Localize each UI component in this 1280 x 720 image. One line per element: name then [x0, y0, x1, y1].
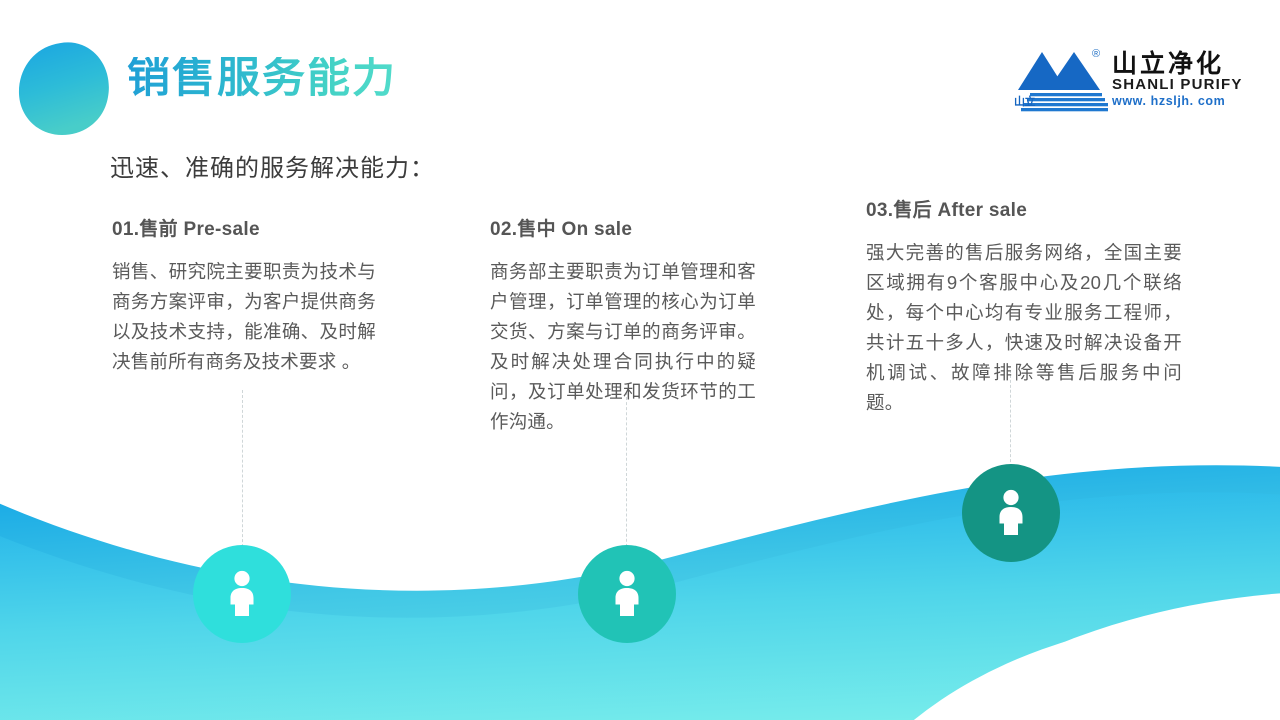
- content-column-after-sale: 03.售后 After sale 强大完善的售后服务网络，全国主要区域拥有9个客…: [866, 195, 1182, 418]
- column-body-text: 商务部主要职责为订单管理和客户管理，订单管理的核心为订单交货、方案与订单的商务评…: [490, 257, 756, 437]
- column-heading: 02.售中 On sale: [490, 214, 756, 241]
- logo-mark-label: 山立: [1014, 93, 1035, 109]
- registered-trademark-icon: ®: [1092, 48, 1100, 60]
- column-body-text: 强大完善的售后服务网络，全国主要区域拥有9个客服中心及20几个联络处，每个中心均…: [866, 238, 1182, 418]
- person-icon: [994, 488, 1028, 538]
- logo-company-name-cn: 山立净化: [1112, 51, 1243, 77]
- section-subtitle: 迅速、准确的服务解决能力：: [110, 148, 435, 183]
- mountain-logo-icon: ® 山立: [1012, 46, 1108, 114]
- content-column-on-sale: 02.售中 On sale 商务部主要职责为订单管理和客户管理，订单管理的核心为…: [490, 214, 756, 437]
- logo-website-url: www. hzsljh. com: [1112, 94, 1243, 108]
- title-blob-shape: [16, 41, 112, 137]
- logo-text-block: 山立净化 SHANLI PURIFY www. hzsljh. com: [1112, 46, 1243, 108]
- content-column-pre-sale: 01.售前 Pre-sale 销售、研究院主要职责为技术与商务方案评审，为客户提…: [112, 214, 376, 377]
- wave-white-ellipse: [815, 615, 1280, 720]
- column-heading: 03.售后 After sale: [866, 195, 1182, 222]
- logo-company-name-en: SHANLI PURIFY: [1112, 77, 1243, 94]
- column-heading: 01.售前 Pre-sale: [112, 214, 376, 241]
- marker-circle-pre-sale[interactable]: [193, 545, 291, 643]
- company-logo: ® 山立 山立净化 SHANLI PURIFY www. hzsljh. com: [1012, 46, 1252, 116]
- connector-line-1: [242, 390, 243, 562]
- marker-circle-on-sale[interactable]: [578, 545, 676, 643]
- slide-canvas: 销售服务能力 ® 山立 山立净化 SHANLI PURIFY www. hzsl…: [0, 0, 1280, 720]
- wave-white-crescent: [905, 592, 1280, 720]
- person-icon: [225, 569, 259, 619]
- column-body-text: 销售、研究院主要职责为技术与商务方案评审，为客户提供商务以及技术支持，能准确、及…: [112, 257, 376, 377]
- person-icon: [610, 569, 644, 619]
- page-title: 销售服务能力: [127, 57, 397, 100]
- marker-circle-after-sale[interactable]: [962, 464, 1060, 562]
